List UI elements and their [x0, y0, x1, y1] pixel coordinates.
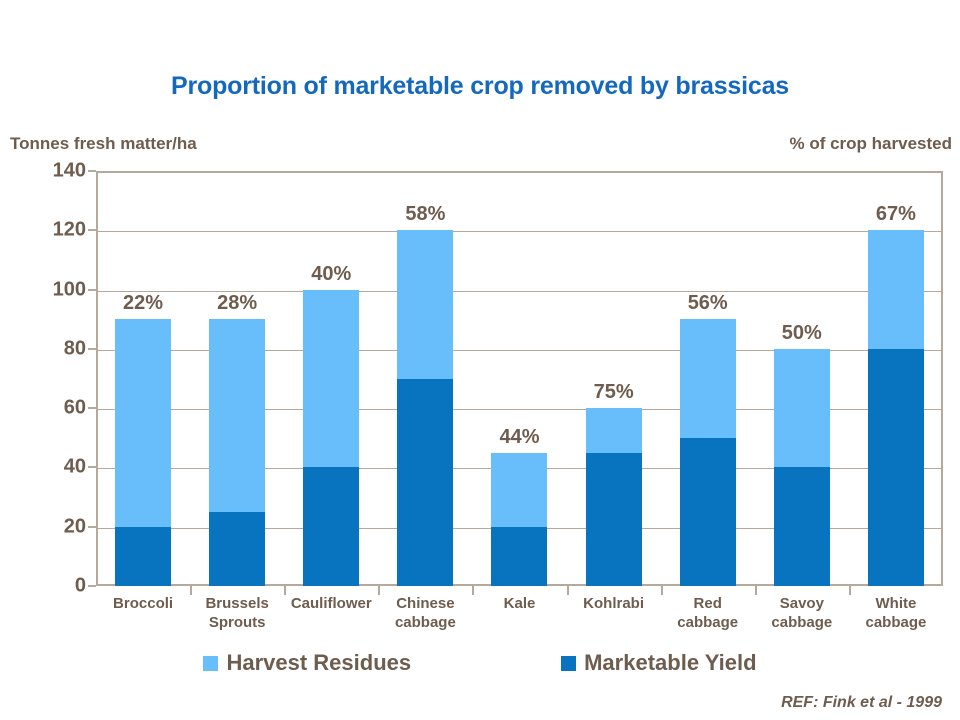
- chart-title: Proportion of marketable crop removed by…: [0, 72, 960, 101]
- y-tick-mark-60: [88, 407, 96, 409]
- x-axis-category-label: Kohlrabi: [567, 594, 661, 632]
- x-axis-separator-tick: [190, 586, 192, 595]
- x-axis-category-label: Red cabbage: [661, 594, 755, 632]
- bar-data-label: 75%: [594, 381, 634, 404]
- bar-segment-harvest-residues[interactable]: [491, 453, 547, 527]
- x-axis-category-labels: BroccoliBrussels SproutsCauliflowerChine…: [96, 594, 943, 632]
- bar-stack[interactable]: [680, 319, 736, 586]
- bar-data-label: 56%: [688, 292, 728, 315]
- x-axis-separator-tick: [661, 586, 663, 595]
- x-axis-category-label: Broccoli: [96, 594, 190, 632]
- bar-stack[interactable]: [397, 230, 453, 586]
- bar-slot: 58%: [378, 171, 472, 586]
- x-axis-separator-tick: [378, 586, 380, 595]
- y-tick-mark-120: [88, 229, 96, 231]
- x-axis-separator-tick: [472, 586, 474, 595]
- bars-layer: 22%28%40%58%44%75%56%50%67%: [96, 171, 943, 586]
- bar-segment-harvest-residues[interactable]: [209, 319, 265, 512]
- bar-segment-marketable-yield[interactable]: [491, 527, 547, 586]
- y-tick-mark-100: [88, 289, 96, 291]
- x-axis-category-label: Chinese cabbage: [378, 594, 472, 632]
- bar-data-label: 28%: [217, 292, 257, 315]
- bar-data-label: 40%: [311, 263, 351, 286]
- bar-segment-harvest-residues[interactable]: [397, 230, 453, 378]
- bar-segment-harvest-residues[interactable]: [115, 319, 171, 527]
- bar-segment-harvest-residues[interactable]: [586, 408, 642, 452]
- x-axis-category-label: Kale: [472, 594, 566, 632]
- bar-segment-marketable-yield[interactable]: [680, 438, 736, 586]
- x-axis-category-label: White cabbage: [849, 594, 943, 632]
- bar-stack[interactable]: [491, 453, 547, 586]
- x-axis-separator-tick: [755, 586, 757, 595]
- legend-swatch-icon: [561, 656, 576, 671]
- legend-swatch-icon: [203, 656, 218, 671]
- legend-item[interactable]: Marketable Yield: [561, 650, 756, 676]
- bar-data-label: 44%: [499, 426, 539, 449]
- chart-legend: Harvest ResiduesMarketable Yield: [0, 650, 960, 676]
- reference-note: REF: Fink et al - 1999: [781, 694, 942, 712]
- bar-segment-harvest-residues[interactable]: [774, 349, 830, 468]
- bar-slot: 75%: [567, 171, 661, 586]
- bar-stack[interactable]: [303, 290, 359, 586]
- bar-slot: 50%: [755, 171, 849, 586]
- y-tick-mark-140: [88, 170, 96, 172]
- legend-item[interactable]: Harvest Residues: [203, 650, 411, 676]
- y-tick-mark-40: [88, 466, 96, 468]
- x-axis-category-label: Savoy cabbage: [755, 594, 849, 632]
- x-axis-separator-tick: [849, 586, 851, 595]
- bar-stack[interactable]: [774, 349, 830, 586]
- bar-data-label: 67%: [876, 203, 916, 226]
- percent-harvested-label: % of crop harvested: [790, 134, 953, 154]
- bar-slot: 56%: [661, 171, 755, 586]
- bar-data-label: 58%: [405, 203, 445, 226]
- bar-stack[interactable]: [209, 319, 265, 586]
- y-tick-mark-80: [88, 348, 96, 350]
- bar-segment-harvest-residues[interactable]: [303, 290, 359, 468]
- bar-segment-marketable-yield[interactable]: [774, 467, 830, 586]
- y-axis-tick-marks: [0, 171, 96, 586]
- legend-label: Harvest Residues: [226, 650, 411, 676]
- bar-stack[interactable]: [586, 408, 642, 586]
- bar-data-label: 22%: [123, 292, 163, 315]
- bar-segment-marketable-yield[interactable]: [586, 453, 642, 586]
- bar-segment-harvest-residues[interactable]: [868, 230, 924, 349]
- bar-stack[interactable]: [868, 230, 924, 586]
- y-tick-mark-0: [88, 585, 96, 587]
- bar-segment-marketable-yield[interactable]: [397, 379, 453, 587]
- bar-segment-marketable-yield[interactable]: [303, 467, 359, 586]
- legend-label: Marketable Yield: [584, 650, 756, 676]
- x-axis-category-label: Cauliflower: [284, 594, 378, 632]
- bar-slot: 67%: [849, 171, 943, 586]
- x-axis-separator-tick: [284, 586, 286, 595]
- x-axis-category-label: Brussels Sprouts: [190, 594, 284, 632]
- y-axis-unit-label: Tonnes fresh matter/ha: [10, 134, 197, 154]
- x-axis-separator-tick: [567, 586, 569, 595]
- bar-segment-marketable-yield[interactable]: [115, 527, 171, 586]
- bar-slot: 22%: [96, 171, 190, 586]
- y-tick-mark-20: [88, 526, 96, 528]
- bar-stack[interactable]: [115, 319, 171, 586]
- bar-data-label: 50%: [782, 322, 822, 345]
- bar-segment-marketable-yield[interactable]: [868, 349, 924, 586]
- bar-slot: 28%: [190, 171, 284, 586]
- bar-slot: 44%: [472, 171, 566, 586]
- bar-segment-harvest-residues[interactable]: [680, 319, 736, 438]
- bar-segment-marketable-yield[interactable]: [209, 512, 265, 586]
- bar-slot: 40%: [284, 171, 378, 586]
